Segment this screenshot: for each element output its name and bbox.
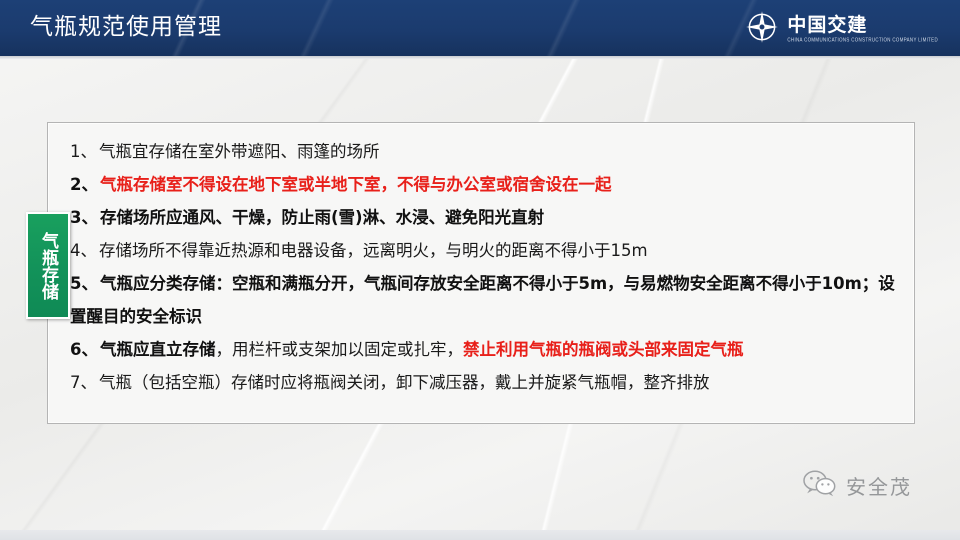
list-item-text: 气瓶（包括空瓶）存储时应将瓶阀关闭，卸下减压器，戴上并旋紧气瓶帽，整齐排放: [99, 373, 710, 392]
section-tab-cylinder-storage[interactable]: 气瓶存储: [26, 212, 70, 319]
list-item-number: 3、: [70, 208, 98, 227]
watermark: 安全茂: [803, 469, 912, 502]
list-item-number: 5、: [70, 274, 98, 293]
list-item-text: 存储场所应通风、干燥，防止雨(雪)淋、水浸、避免阳光直射: [100, 208, 544, 227]
list-item-number: 2、: [70, 175, 98, 194]
brand-name-en: CHINA COMMUNICATIONS CONSTRUCTION COMPAN…: [787, 38, 938, 43]
header-underline: [0, 56, 960, 59]
slide: 气瓶规范使用管理 中国交建 CHINA COMMUNICATIONS CONST…: [0, 0, 960, 540]
list-item-number: 7、: [70, 373, 97, 392]
list-item-number: 1、: [70, 142, 97, 161]
list-item-text: ，用栏杆或支架加以固定或扎牢，: [215, 340, 463, 359]
list-item-text: 气瓶宜存储在室外带遮阳、雨篷的场所: [99, 142, 380, 161]
slide-header: 气瓶规范使用管理 中国交建 CHINA COMMUNICATIONS CONST…: [0, 0, 960, 56]
list-item: 6、气瓶应直立存储，用栏杆或支架加以固定或扎牢，禁止利用气瓶的瓶阀或头部来固定气…: [70, 333, 900, 366]
list-item: 4、存储场所不得靠近热源和电器设备，远离明火，与明火的距离不得小于15m: [70, 234, 900, 267]
wechat-icon: [803, 469, 837, 502]
list-item-text: 存储场所不得靠近热源和电器设备，远离明火，与明火的距离不得小于15m: [99, 241, 648, 260]
list-item: 3、存储场所应通风、干燥，防止雨(雪)淋、水浸、避免阳光直射: [70, 201, 900, 234]
page-title: 气瓶规范使用管理: [30, 10, 222, 44]
list-item: 2、气瓶存储室不得设在地下室或半地下室，不得与办公室或宿舍设在一起: [70, 168, 900, 201]
list-item-text: 气瓶存储室不得设在地下室或半地下室，不得与办公室或宿舍设在一起: [100, 175, 612, 194]
brand-text: 中国交建 CHINA COMMUNICATIONS CONSTRUCTION C…: [787, 16, 938, 42]
section-tab-label: 气瓶存储: [36, 232, 60, 300]
list-item-text: 禁止利用气瓶的瓶阀或头部来固定气瓶: [463, 340, 744, 359]
brand-name-cn: 中国交建: [787, 16, 867, 35]
list-item-number: 6、: [70, 340, 98, 359]
list-item-number: 4、: [70, 241, 97, 260]
list-item: 1、气瓶宜存储在室外带遮阳、雨篷的场所: [70, 135, 900, 168]
watermark-label: 安全茂: [846, 471, 912, 500]
list-item-text: 气瓶应直立存储: [100, 340, 216, 359]
content-panel: 1、气瓶宜存储在室外带遮阳、雨篷的场所2、气瓶存储室不得设在地下室或半地下室，不…: [47, 122, 915, 424]
list-item-text: 气瓶应分类存储：空瓶和满瓶分开，气瓶间存放安全距离不得小于5m，与易燃物安全距离…: [70, 274, 895, 326]
list-item: 7、气瓶（包括空瓶）存储时应将瓶阀关闭，卸下减压器，戴上并旋紧气瓶帽，整齐排放: [70, 366, 900, 399]
list-item: 5、气瓶应分类存储：空瓶和满瓶分开，气瓶间存放安全距离不得小于5m，与易燃物安全…: [70, 267, 900, 333]
compass-star-icon: [744, 9, 780, 50]
footer-strip: [0, 530, 960, 540]
brand-logo: 中国交建 CHINA COMMUNICATIONS CONSTRUCTION C…: [744, 9, 938, 50]
content-list: 1、气瓶宜存储在室外带遮阳、雨篷的场所2、气瓶存储室不得设在地下室或半地下室，不…: [70, 135, 900, 399]
